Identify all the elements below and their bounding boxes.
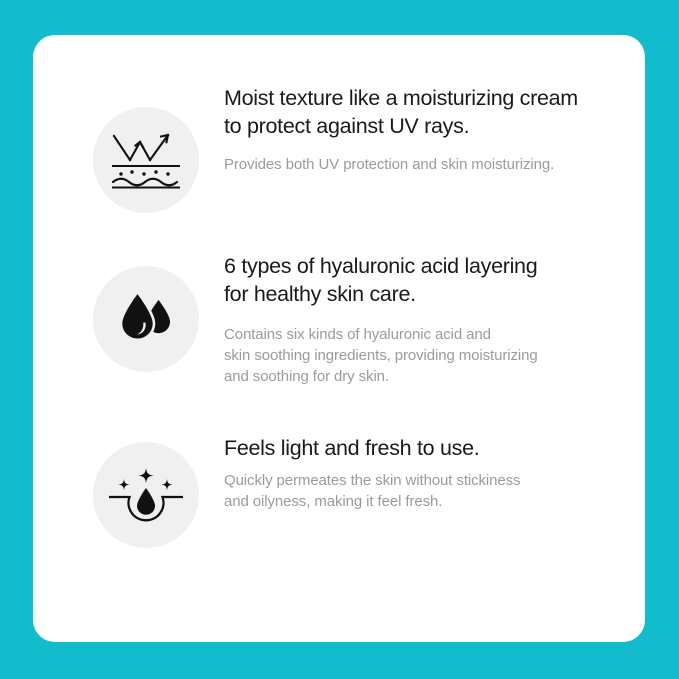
feature-icon-container bbox=[93, 442, 199, 548]
feature-item-uv-protection: Moist texture like a moisturizing cream … bbox=[93, 80, 623, 213]
feature-card: Moist texture like a moisturizing cream … bbox=[33, 35, 645, 642]
feature-text-block: 6 types of hyaluronic acid layering for … bbox=[199, 248, 623, 387]
feature-body: Contains six kinds of hyaluronic acid an… bbox=[224, 324, 623, 387]
feature-text-block: Moist texture like a moisturizing cream … bbox=[199, 80, 623, 175]
feature-item-hyaluronic-acid: 6 types of hyaluronic acid layering for … bbox=[93, 248, 623, 387]
feature-icon-container bbox=[93, 266, 199, 372]
absorbing-droplet-sparkle-icon bbox=[109, 466, 183, 524]
feature-heading: 6 types of hyaluronic acid layering for … bbox=[224, 252, 623, 308]
feature-item-light-fresh: Feels light and fresh to use. Quickly pe… bbox=[93, 430, 623, 548]
feature-icon-container bbox=[93, 107, 199, 213]
uv-reflect-skin-icon bbox=[110, 130, 182, 190]
feature-body: Quickly permeates the skin without stick… bbox=[224, 470, 623, 512]
feature-heading: Feels light and fresh to use. bbox=[224, 434, 623, 462]
feature-heading: Moist texture like a moisturizing cream … bbox=[224, 84, 623, 140]
water-droplets-icon bbox=[115, 290, 177, 348]
feature-text-block: Feels light and fresh to use. Quickly pe… bbox=[199, 430, 623, 512]
feature-list: Moist texture like a moisturizing cream … bbox=[33, 35, 645, 642]
feature-body: Provides both UV protection and skin moi… bbox=[224, 154, 623, 175]
